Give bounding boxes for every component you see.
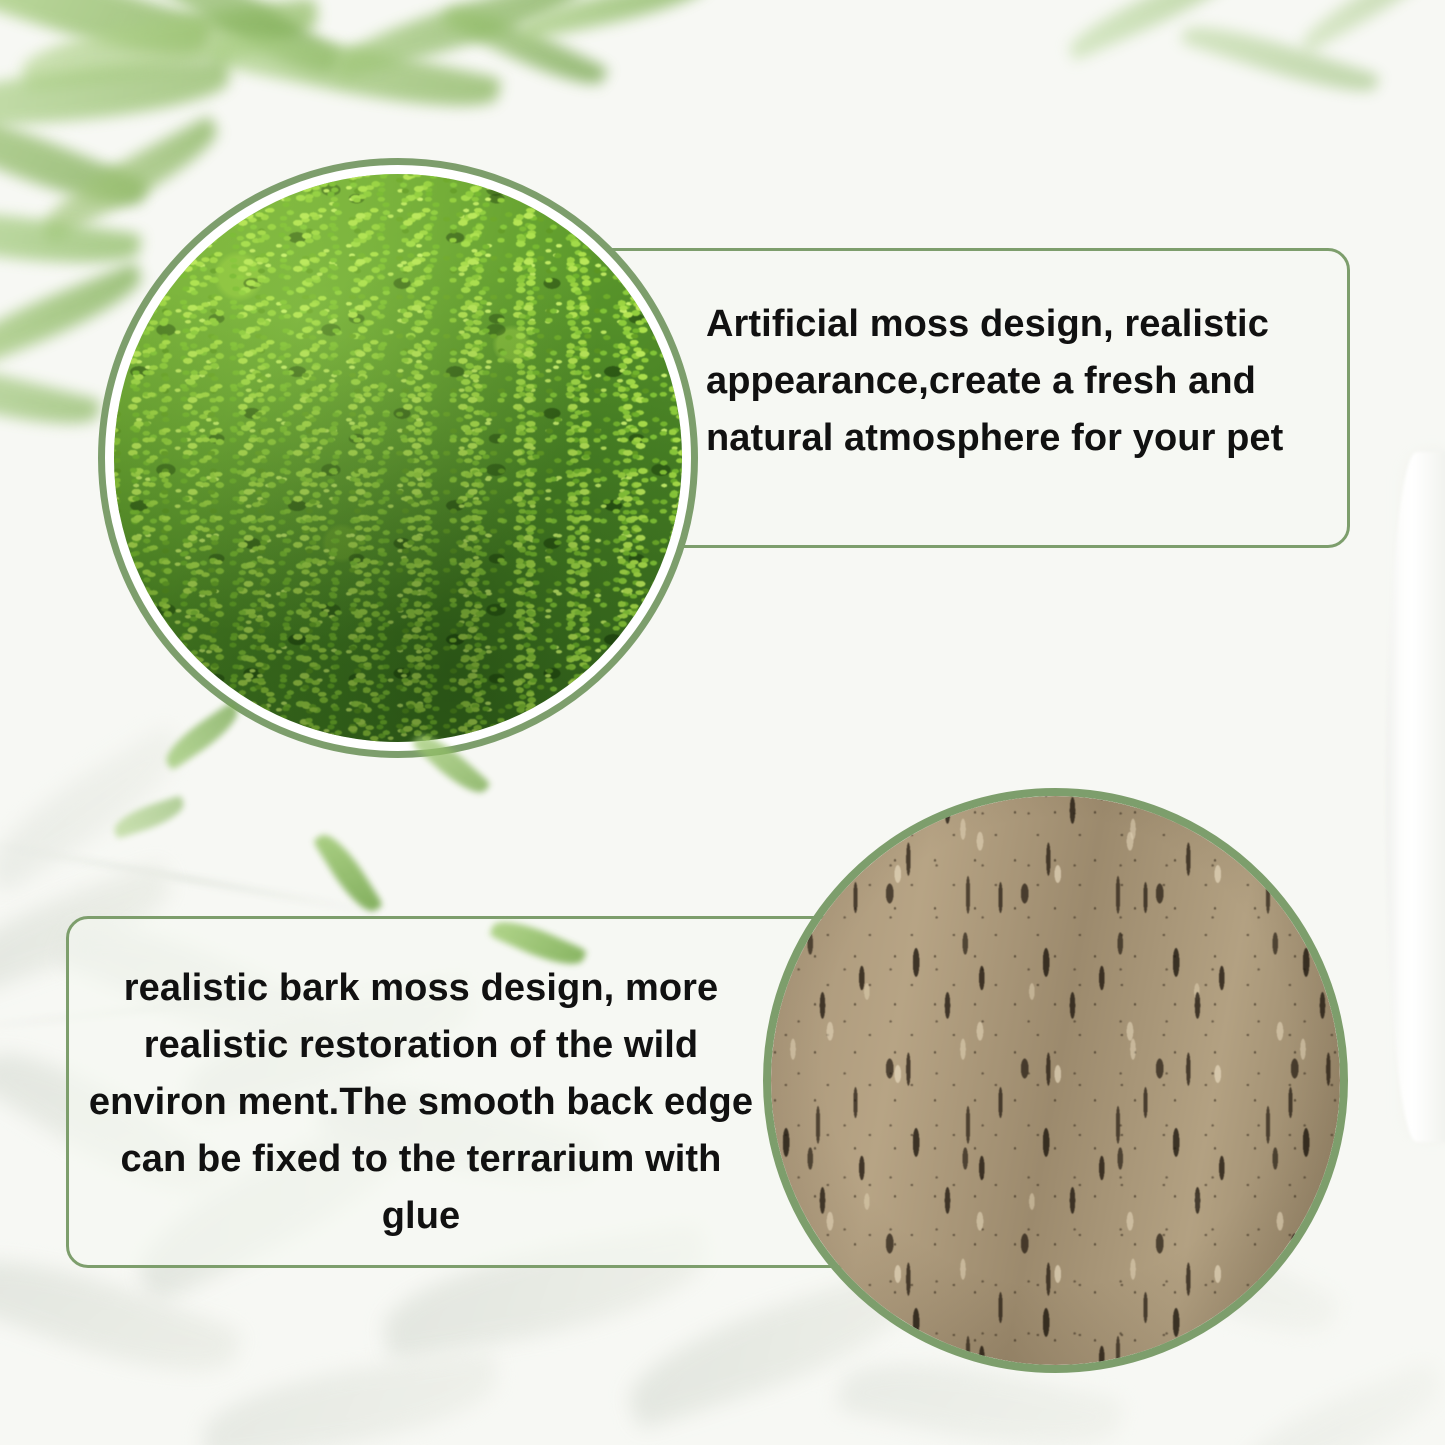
bamboo-leaf-icon — [442, 0, 609, 98]
bamboo-leaf-icon — [18, 0, 322, 91]
leaf-shadow — [196, 1349, 503, 1445]
bamboo-leaf-icon — [0, 345, 101, 439]
bark-photo-circle — [763, 788, 1348, 1373]
bamboo-leaf-icon — [126, 0, 344, 92]
floating-leaf-icon — [110, 795, 187, 839]
leaf-shadow — [0, 723, 198, 894]
cylinder-shadow — [1400, 455, 1445, 1135]
bamboo-leaf-icon — [0, 0, 213, 75]
leaf-shadow — [1227, 1361, 1445, 1445]
bamboo-leaf-icon — [1062, 0, 1248, 61]
infographic-canvas: Artificial moss design, realistic appear… — [0, 0, 1445, 1445]
moss-texture-image — [114, 174, 682, 742]
bamboo-leaf-icon — [519, 0, 711, 41]
moss-photo-circle — [98, 158, 698, 758]
white-cylinder — [1386, 452, 1445, 1142]
bark-texture-image — [771, 796, 1340, 1365]
bamboo-leaf-icon — [0, 60, 231, 131]
bamboo-leaf-icon — [208, 18, 501, 123]
bamboo-leaf-icon — [330, 0, 591, 81]
floating-leaf-icon — [313, 827, 384, 919]
bamboo-leaf-icon — [1294, 0, 1445, 54]
bark-feature-text: realistic bark moss design, more realist… — [86, 960, 756, 1245]
bark-vignette — [771, 796, 1340, 1365]
leaf-shadow-stem — [0, 840, 387, 916]
moss-feature-text: Artificial moss design, realistic appear… — [706, 296, 1346, 467]
bamboo-leaf-icon — [1180, 14, 1379, 104]
